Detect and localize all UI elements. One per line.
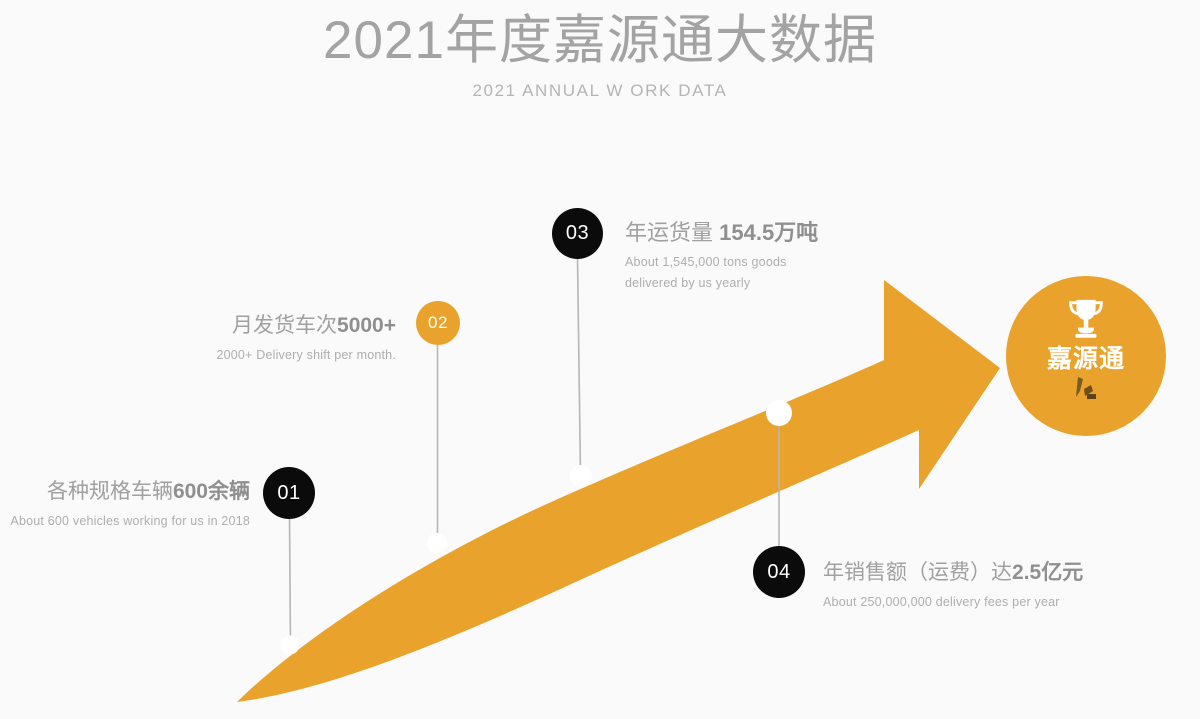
callout-03-sub-line-1: About 1,545,000 tons goods: [625, 253, 955, 272]
callout-04-heading-plain: 年销售额（运费）达: [823, 561, 1012, 584]
callout-02-heading-value: 5000+: [337, 314, 396, 337]
brand-logo-name: 嘉源通: [1047, 344, 1125, 374]
connector-line-03: [578, 258, 581, 476]
callout-02-heading: 月发货车次5000+: [150, 312, 396, 340]
brand-logo-circle[interactable]: 嘉源通: [1006, 276, 1166, 436]
callout-01-heading-value: 600余辆: [173, 480, 250, 503]
callout-03-heading: 年运货量 154.5万吨: [625, 219, 955, 247]
callout-02-heading-plain: 月发货车次: [232, 314, 337, 337]
company-emblem-icon: [1069, 375, 1103, 403]
milestone-badge-01-label: 01: [277, 482, 300, 505]
milestone-badge-04-label: 04: [767, 561, 790, 584]
milestone-badge-03-label: 03: [566, 222, 589, 245]
connector-line-01: [290, 519, 291, 645]
callout-04-heading-value: 2.5亿元: [1012, 561, 1083, 584]
milestone-badge-03[interactable]: 03: [552, 208, 603, 259]
callout-03-sub-line-2: delivered by us yearly: [625, 274, 955, 293]
callout-01-heading-plain: 各种规格车辆: [47, 480, 173, 503]
callout-04: 年销售额（运费）达2.5亿元 About 250,000,000 deliver…: [823, 559, 1193, 612]
callout-03: 年运货量 154.5万吨 About 1,545,000 tons goods …: [625, 219, 955, 293]
callout-04-heading: 年销售额（运费）达2.5亿元: [823, 559, 1193, 587]
milestone-badge-01[interactable]: 01: [263, 467, 315, 519]
anchor-dot-03: [570, 465, 592, 487]
callout-01-sub: About 600 vehicles working for us in 201…: [0, 512, 250, 531]
anchor-dot-01: [281, 636, 300, 655]
infographic-canvas: 2021年度嘉源通大数据 2021 ANNUAL W ORK DATA 01 0…: [0, 0, 1200, 719]
callout-03-heading-plain: 年运货量: [625, 220, 719, 245]
callout-02: 月发货车次5000+ 2000+ Delivery shift per mont…: [150, 312, 396, 365]
anchor-dot-04: [766, 400, 792, 426]
milestone-badge-02[interactable]: 02: [416, 301, 460, 345]
callout-04-sub: About 250,000,000 delivery fees per year: [823, 593, 1193, 612]
anchor-dot-02: [427, 533, 447, 553]
callout-01-heading: 各种规格车辆600余辆: [0, 478, 250, 506]
callout-03-heading-value: 154.5万吨: [719, 220, 818, 245]
milestone-badge-02-label: 02: [428, 313, 448, 333]
trophy-icon: [1063, 296, 1109, 342]
callout-02-sub: 2000+ Delivery shift per month.: [150, 346, 396, 365]
milestone-badge-04[interactable]: 04: [753, 546, 805, 598]
callout-01: 各种规格车辆600余辆 About 600 vehicles working f…: [0, 478, 250, 531]
